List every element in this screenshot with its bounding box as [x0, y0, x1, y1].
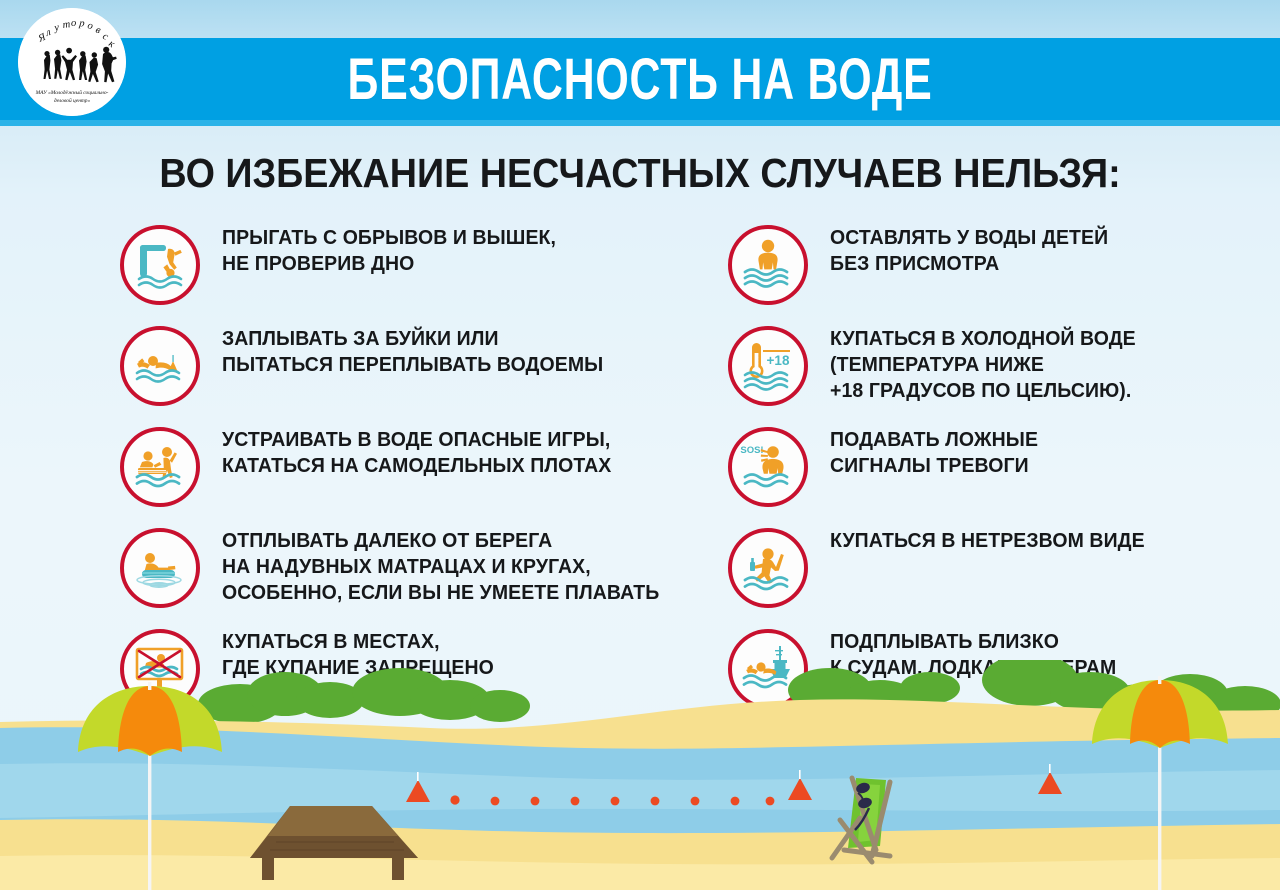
rule-line: ПОДАВАТЬ ЛОЖНЫЕ: [830, 427, 1038, 453]
swimmer-past-buoy-icon: [129, 335, 191, 397]
rule-line: НА НАДУВНЫХ МАТРАЦАХ И КРУГАХ,: [222, 554, 659, 580]
rule-item: ОСТАВЛЯТЬ У ВОДЫ ДЕТЕЙ БЕЗ ПРИСМОТРА: [728, 225, 1248, 305]
rule-item: SOS! ПОДАВАТ: [728, 427, 1248, 507]
logo-graphic: Я л у т о р о в с к: [18, 8, 126, 116]
svg-text:деловой центр»: деловой центр»: [54, 97, 91, 104]
rule-line: КУПАТЬСЯ В НЕТРЕЗВОМ ВИДЕ: [830, 528, 1145, 554]
rule-text: ПРЫГАТЬ С ОБРЫВОВ И ВЫШЕК, НЕ ПРОВЕРИВ Д…: [222, 225, 556, 277]
rule-text: ПОДАВАТЬ ЛОЖНЫЕ СИГНАЛЫ ТРЕВОГИ: [830, 427, 1038, 479]
rule-line: УСТРАИВАТЬ В ВОДЕ ОПАСНЫЕ ИГРЫ,: [222, 427, 611, 453]
rule-line: ЗАПЛЫВАТЬ ЗА БУЙКИ ИЛИ: [222, 326, 603, 352]
false-sos-signal-icon: SOS!: [737, 436, 799, 498]
rule-item: +18 КУПАТЬСЯ В ХОЛОДНОЙ ВОДЕ (ТЕМПЕРАТУР…: [728, 326, 1248, 406]
rule-line: ОСТАВЛЯТЬ У ВОДЫ ДЕТЕЙ: [830, 225, 1108, 251]
rule-item: ОТПЛЫВАТЬ ДАЛЕКО ОТ БЕРЕГА НА НАДУВНЫХ М…: [120, 528, 720, 608]
child-alone-at-water-icon: [737, 234, 799, 296]
beach-scene-graphic: [0, 660, 1280, 890]
rule-line: СИГНАЛЫ ТРЕВОГИ: [830, 453, 1038, 479]
rule-badge: [120, 225, 200, 305]
rule-badge: [728, 225, 808, 305]
rule-line: ОСОБЕННО, ЕСЛИ ВЫ НЕ УМЕЕТЕ ПЛАВАТЬ: [222, 580, 659, 606]
rule-line: КУПАТЬСЯ В ХОЛОДНОЙ ВОДЕ: [830, 326, 1136, 352]
rule-line: КУПАТЬСЯ В МЕСТАХ,: [222, 629, 494, 655]
header-banner-underline: [0, 120, 1280, 126]
rule-text: ОСТАВЛЯТЬ У ВОДЫ ДЕТЕЙ БЕЗ ПРИСМОТРА: [830, 225, 1108, 277]
rule-badge: [728, 528, 808, 608]
rule-badge: [120, 427, 200, 507]
inflatable-mattress-icon: [129, 537, 191, 599]
rule-badge: [120, 528, 200, 608]
beach-scene: [0, 660, 1280, 890]
rule-badge: [120, 326, 200, 406]
rule-text: ЗАПЛЫВАТЬ ЗА БУЙКИ ИЛИ ПЫТАТЬСЯ ПЕРЕПЛЫВ…: [222, 326, 603, 378]
rule-text: КУПАТЬСЯ В НЕТРЕЗВОМ ВИДЕ: [830, 528, 1145, 554]
logo: Я л у т о р о в с к: [18, 8, 126, 116]
rules-column-right: ОСТАВЛЯТЬ У ВОДЫ ДЕТЕЙ БЕЗ ПРИСМОТРА +18: [728, 225, 1248, 709]
rule-badge: SOS!: [728, 427, 808, 507]
rule-text: УСТРАИВАТЬ В ВОДЕ ОПАСНЫЕ ИГРЫ, КАТАТЬСЯ…: [222, 427, 611, 479]
rule-item: ПРЫГАТЬ С ОБРЫВОВ И ВЫШЕК, НЕ ПРОВЕРИВ Д…: [120, 225, 720, 305]
thermometer-icon: +18: [737, 335, 799, 397]
section-subtitle: ВО ИЗБЕЖАНИЕ НЕСЧАСТНЫХ СЛУЧАЕВ НЕЛЬЗЯ:: [51, 150, 1229, 197]
rule-line: КАТАТЬСЯ НА САМОДЕЛЬНЫХ ПЛОТАХ: [222, 453, 611, 479]
poster: БЕЗОПАСНОСТЬ НА ВОДЕ Я л у т о р о в с к: [0, 0, 1280, 890]
drunk-swimmer-icon: [737, 537, 799, 599]
rule-badge: +18: [728, 326, 808, 406]
rule-text: ОТПЛЫВАТЬ ДАЛЕКО ОТ БЕРЕГА НА НАДУВНЫХ М…: [222, 528, 659, 606]
rule-line: ПЫТАТЬСЯ ПЕРЕПЛЫВАТЬ ВОДОЕМЫ: [222, 352, 603, 378]
rule-line: (ТЕМПЕРАТУРА НИЖЕ: [830, 352, 1136, 378]
sos-label: SOS!: [740, 445, 763, 456]
raft-games-icon: [129, 436, 191, 498]
thermometer-label: +18: [767, 353, 790, 368]
rule-line: +18 ГРАДУСОВ ПО ЦЕЛЬСИЮ).: [830, 378, 1136, 404]
rule-item: ЗАПЛЫВАТЬ ЗА БУЙКИ ИЛИ ПЫТАТЬСЯ ПЕРЕПЛЫВ…: [120, 326, 720, 406]
rule-item: УСТРАИВАТЬ В ВОДЕ ОПАСНЫЕ ИГРЫ, КАТАТЬСЯ…: [120, 427, 720, 507]
rule-line: ПРЫГАТЬ С ОБРЫВОВ И ВЫШЕК,: [222, 225, 556, 251]
rule-line: БЕЗ ПРИСМОТРА: [830, 251, 1108, 277]
rule-line: НЕ ПРОВЕРИВ ДНО: [222, 251, 556, 277]
page-title: БЕЗОПАСНОСТЬ НА ВОДЕ: [166, 38, 1113, 120]
diving-platform-icon: [129, 234, 191, 296]
rules-column-left: ПРЫГАТЬ С ОБРЫВОВ И ВЫШЕК, НЕ ПРОВЕРИВ Д…: [120, 225, 720, 709]
rule-line: ПОДПЛЫВАТЬ БЛИЗКО: [830, 629, 1116, 655]
top-sky-strip: [0, 0, 1280, 38]
rule-line: ОТПЛЫВАТЬ ДАЛЕКО ОТ БЕРЕГА: [222, 528, 659, 554]
svg-text:о: о: [71, 18, 76, 29]
rule-text: КУПАТЬСЯ В ХОЛОДНОЙ ВОДЕ (ТЕМПЕРАТУРА НИ…: [830, 326, 1136, 404]
rule-item: КУПАТЬСЯ В НЕТРЕЗВОМ ВИДЕ: [728, 528, 1248, 608]
svg-text:МАУ «Молодёжный социально-: МАУ «Молодёжный социально-: [35, 89, 109, 96]
